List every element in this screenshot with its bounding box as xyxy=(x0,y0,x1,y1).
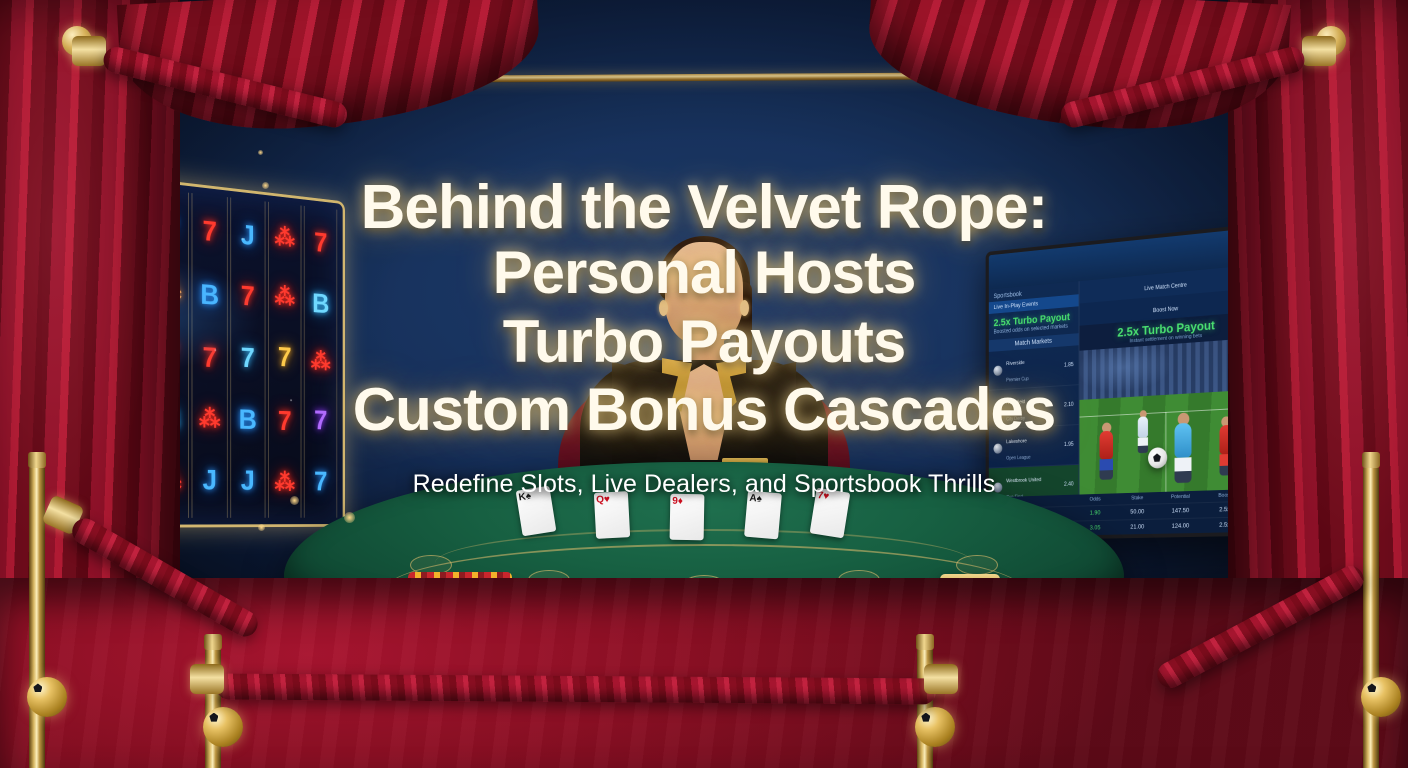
playing-card[interactable]: Q♥ xyxy=(594,491,630,539)
slot-symbol-seven-icon: 7 xyxy=(278,408,292,436)
spark-particle xyxy=(290,496,299,505)
market-row[interactable]: Northfield City Derby 2.10 xyxy=(989,385,1079,430)
rope-end-cap xyxy=(72,36,106,66)
market-odd[interactable]: 2.10 xyxy=(1064,402,1074,408)
slot-symbol-seven-icon: 7 xyxy=(314,229,327,258)
slot-symbol-jack-icon: J xyxy=(241,467,255,495)
playing-card[interactable]: K♠ xyxy=(516,486,557,537)
cell-odds: 1.90 xyxy=(1076,509,1114,517)
rope-end-cap xyxy=(1302,36,1336,66)
slot-symbol-cherry-icon: ⁂ xyxy=(275,226,295,251)
team-info: Riverside Premier Cup xyxy=(1006,349,1060,386)
market-row[interactable]: Riverside Premier Cup 1.85 xyxy=(989,345,1079,391)
stanchion-ball-icon xyxy=(203,707,243,747)
cell-stake: 50.00 xyxy=(1118,508,1157,516)
slot-symbol-seven-icon: 7 xyxy=(278,344,292,372)
team-league: City Derby xyxy=(1006,416,1025,422)
rope-end-cap xyxy=(924,664,958,694)
cell-stake: 21.00 xyxy=(1118,523,1157,530)
slot-symbol-cherry-icon: ⁂ xyxy=(275,471,295,494)
boost-label: Boost Now xyxy=(1153,306,1178,314)
team-name: Westbrook United xyxy=(1006,477,1041,484)
stanchion-post-left xyxy=(24,452,50,768)
slot-symbol-bar-icon: B xyxy=(239,406,257,435)
stanchion-neck xyxy=(204,634,222,650)
col-potential: Potential xyxy=(1160,494,1200,501)
slot-symbol-jack-icon: J xyxy=(203,466,217,495)
stanchion-neck xyxy=(1362,452,1380,468)
stanchion-post-front-left xyxy=(200,634,226,768)
playing-card[interactable]: A♠ xyxy=(744,490,782,539)
cell-potential: 124.00 xyxy=(1160,522,1200,530)
slot-symbol-bar-icon: B xyxy=(312,290,329,319)
market-row[interactable]: Lakeshore Open League 1.95 xyxy=(989,425,1079,468)
slot-reel: 7 B 7 ⁂ J xyxy=(192,193,228,518)
promo-banner: ⁂ ⁂ ⁂ 7 ⁂ ⁂ B 7 7 ⁂ 7 ⁂ 7 B ⁂ 7 xyxy=(0,0,1408,768)
spark-particle xyxy=(258,524,265,531)
playing-card[interactable]: 9♦ xyxy=(670,493,705,540)
team-info: Northfield City Derby xyxy=(1006,389,1060,425)
slot-symbol-cherry-icon: ⁂ xyxy=(275,285,295,310)
player-legs xyxy=(1175,457,1192,483)
stanchion-shaft xyxy=(29,468,45,768)
cell-potential: 147.50 xyxy=(1160,507,1200,515)
stanchion-neck xyxy=(916,634,934,650)
team-crest-icon xyxy=(994,404,1003,414)
spark-particle xyxy=(262,182,269,189)
slot-symbol-seven-icon: 7 xyxy=(241,283,255,312)
market-odd[interactable]: 2.40 xyxy=(1064,482,1074,488)
player-legs xyxy=(1138,437,1148,453)
player-jersey xyxy=(1175,422,1192,457)
team-league: Open League xyxy=(1006,455,1030,462)
slot-symbol-seven-icon: 7 xyxy=(203,217,217,247)
col-odds: Odds xyxy=(1076,496,1114,503)
stanchion-shaft xyxy=(1363,468,1379,768)
stanchion-neck xyxy=(28,452,46,468)
football-icon xyxy=(1148,447,1167,469)
bet-spot[interactable] xyxy=(956,555,998,575)
slot-symbol-seven-icon: 7 xyxy=(314,407,327,435)
spark-particle xyxy=(258,150,263,155)
dealer-head xyxy=(665,242,743,344)
slot-symbol-seven-icon: 7 xyxy=(203,344,217,373)
playing-card[interactable]: 7♥ xyxy=(810,488,851,539)
team-crest-icon xyxy=(994,443,1003,453)
player-figure xyxy=(1175,412,1192,483)
col-stake: Stake xyxy=(1118,495,1157,502)
player-jersey xyxy=(1138,416,1148,437)
slot-symbol-bar-icon: B xyxy=(200,281,219,311)
dealer-earring-icon xyxy=(740,300,749,316)
team-name: Lakeshore xyxy=(1006,439,1027,445)
team-name: Northfield xyxy=(1006,399,1025,406)
slot-symbol-cherry-icon: ⁂ xyxy=(199,407,221,431)
team-crest-icon xyxy=(994,365,1003,376)
slot-symbol-seven-icon: 7 xyxy=(314,468,327,496)
team-crest-icon xyxy=(994,482,1003,492)
slot-reel: 7 B ⁂ 7 7 xyxy=(304,206,337,518)
sportsbook-sidebar: Sportsbook Live In-Play Events 2.5x Turb… xyxy=(989,281,1080,497)
player-legs xyxy=(1100,458,1114,479)
slot-symbol-jack-icon: J xyxy=(241,221,255,251)
rope-end-cap xyxy=(190,664,224,694)
dealer-earring-icon xyxy=(659,300,668,316)
team-info: Lakeshore Open League xyxy=(1006,429,1060,464)
player-figure xyxy=(1138,410,1148,453)
table-arc-line xyxy=(435,529,973,563)
player-figure xyxy=(1100,422,1114,480)
slot-symbol-cherry-icon: ⁂ xyxy=(311,351,331,375)
slot-reel: J 7 7 B J xyxy=(230,197,265,517)
match-centre-title: Live Match Centre xyxy=(1144,283,1187,292)
team-league: Premier Cup xyxy=(1006,376,1029,383)
stanchion-ball-icon xyxy=(915,707,955,747)
team-name: Riverside xyxy=(1006,360,1024,367)
spark-particle xyxy=(344,512,355,523)
market-odd[interactable]: 1.95 xyxy=(1064,442,1074,448)
velvet-rope-front xyxy=(216,673,936,704)
market-odd[interactable]: 1.85 xyxy=(1064,362,1074,368)
slot-reel: ⁂ ⁂ 7 7 ⁂ xyxy=(268,202,302,518)
stanchion-post-right xyxy=(1358,452,1384,768)
slot-symbol-seven-icon: 7 xyxy=(241,344,255,373)
player-jersey xyxy=(1100,430,1114,459)
